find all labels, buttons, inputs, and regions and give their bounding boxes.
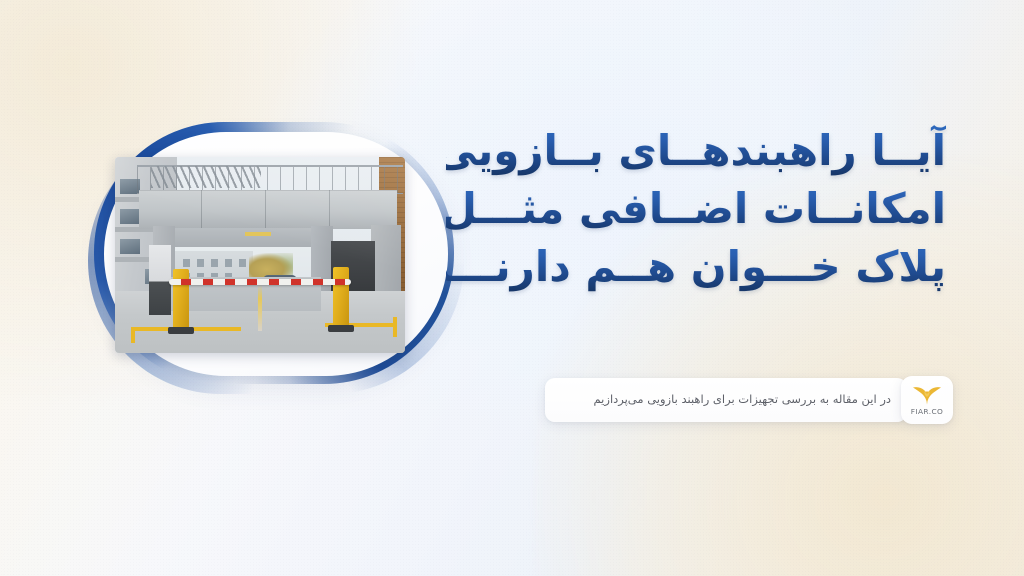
headline-line-1: آیــا راهبندهــای بــازویی bbox=[446, 122, 946, 180]
caption-bar: در این مقاله به بررسی تجهیزات برای راهبن… bbox=[545, 378, 907, 422]
caption-text: در این مقاله به بررسی تجهیزات برای راهبن… bbox=[594, 391, 891, 408]
headline-line-2: امکانــات اضــافی مثـــل bbox=[446, 180, 946, 238]
banner-canvas: آیــا راهبندهــای بــازویی امکانــات اضـ… bbox=[0, 0, 1024, 576]
brand-logo-tile[interactable]: FIAR.CO bbox=[901, 376, 953, 424]
headline: آیــا راهبندهــای بــازویی امکانــات اضـ… bbox=[446, 122, 946, 296]
brand-name: FIAR.CO bbox=[911, 407, 944, 416]
photo-frame bbox=[115, 157, 405, 353]
headline-line-3: پلاک خـــوان هــم دارنـــد؟ bbox=[446, 238, 946, 296]
eagle-icon bbox=[912, 384, 942, 406]
garage-photo bbox=[115, 157, 405, 353]
